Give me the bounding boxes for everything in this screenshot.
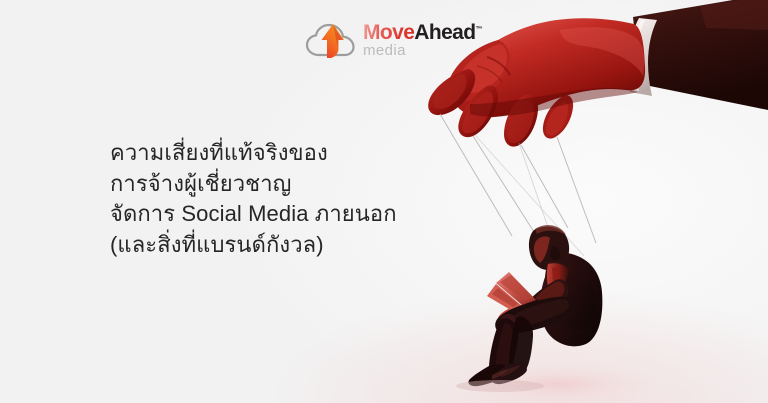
headline-line-3: จัดการ Social Media ภายนอก bbox=[110, 199, 450, 230]
logo-tagline: media bbox=[363, 42, 406, 59]
trademark-symbol: ™ bbox=[475, 26, 482, 33]
logo-wordmark: MoveAhead™ media bbox=[363, 22, 482, 59]
article-banner: MoveAhead™ media ความเสี่ยงที่แท้จริงของ… bbox=[0, 0, 768, 403]
logo-word-move: Move bbox=[363, 21, 414, 44]
headline-line-2: การจ้างผู้เชี่ยวชาญ bbox=[110, 169, 450, 200]
logo-word-ahead: Ahead bbox=[414, 21, 475, 44]
moveahead-media-logo[interactable]: MoveAhead™ media bbox=[305, 17, 480, 65]
headline-line-1: ความเสี่ยงที่แท้จริงของ bbox=[110, 138, 450, 169]
page-title: ความเสี่ยงที่แท้จริงของ การจ้างผู้เชี่ยว… bbox=[110, 138, 450, 260]
headline-line-4: (และสิ่งที่แบรนด์กังวล) bbox=[110, 230, 450, 261]
cloud-arrow-logo-mark bbox=[305, 20, 357, 62]
